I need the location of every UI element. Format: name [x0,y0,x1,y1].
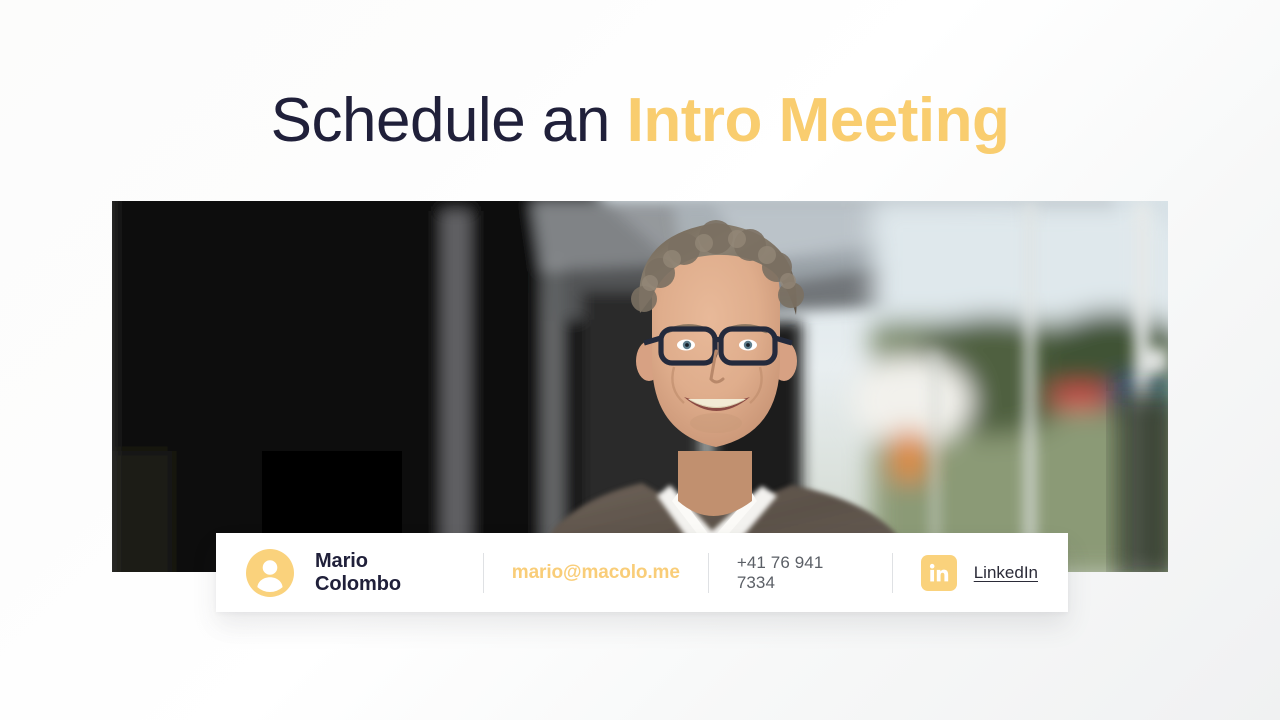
contact-email-link[interactable]: mario@macolo.me [512,562,680,584]
divider-3 [892,553,893,593]
title-space [610,86,627,155]
divider-2 [708,553,709,593]
linkedin-in-glyph [928,562,950,584]
contact-phone[interactable]: +41 76 941 7334 [737,553,864,593]
avatar-person-glyph [246,549,294,597]
contact-card: Mario Colombo mario@macolo.me +41 76 941… [216,533,1068,612]
page-title-light: Schedule an [271,86,610,155]
hero-portrait-photo [112,201,1168,572]
contact-identity: Mario Colombo [246,533,455,612]
linkedin-group[interactable]: LinkedIn [921,533,1038,612]
page-title-accent: Intro Meeting [627,86,1010,155]
page-title: Schedule an Intro Meeting [0,84,1280,158]
linkedin-label[interactable]: LinkedIn [974,563,1038,583]
linkedin-icon[interactable] [921,555,957,591]
person-avatar-icon [246,549,294,597]
portrait-illustration [112,201,1168,572]
contact-name: Mario Colombo [315,550,455,596]
divider-1 [483,553,484,593]
